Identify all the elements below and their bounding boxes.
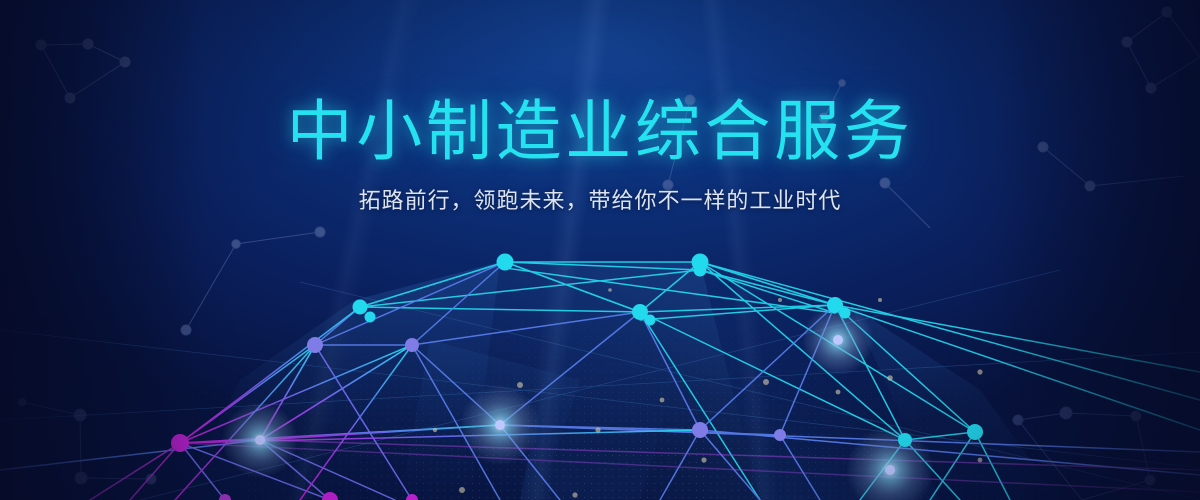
hero-banner: 中小制造业综合服务 拓路前行，领跑未来，带给你不一样的工业时代 xyxy=(0,0,1200,500)
banner-text-block: 中小制造业综合服务 拓路前行，领跑未来，带给你不一样的工业时代 xyxy=(0,96,1200,215)
banner-subtitle: 拓路前行，领跑未来，带给你不一样的工业时代 xyxy=(0,183,1200,215)
banner-title: 中小制造业综合服务 xyxy=(0,96,1200,167)
background-vignette xyxy=(0,0,1200,500)
